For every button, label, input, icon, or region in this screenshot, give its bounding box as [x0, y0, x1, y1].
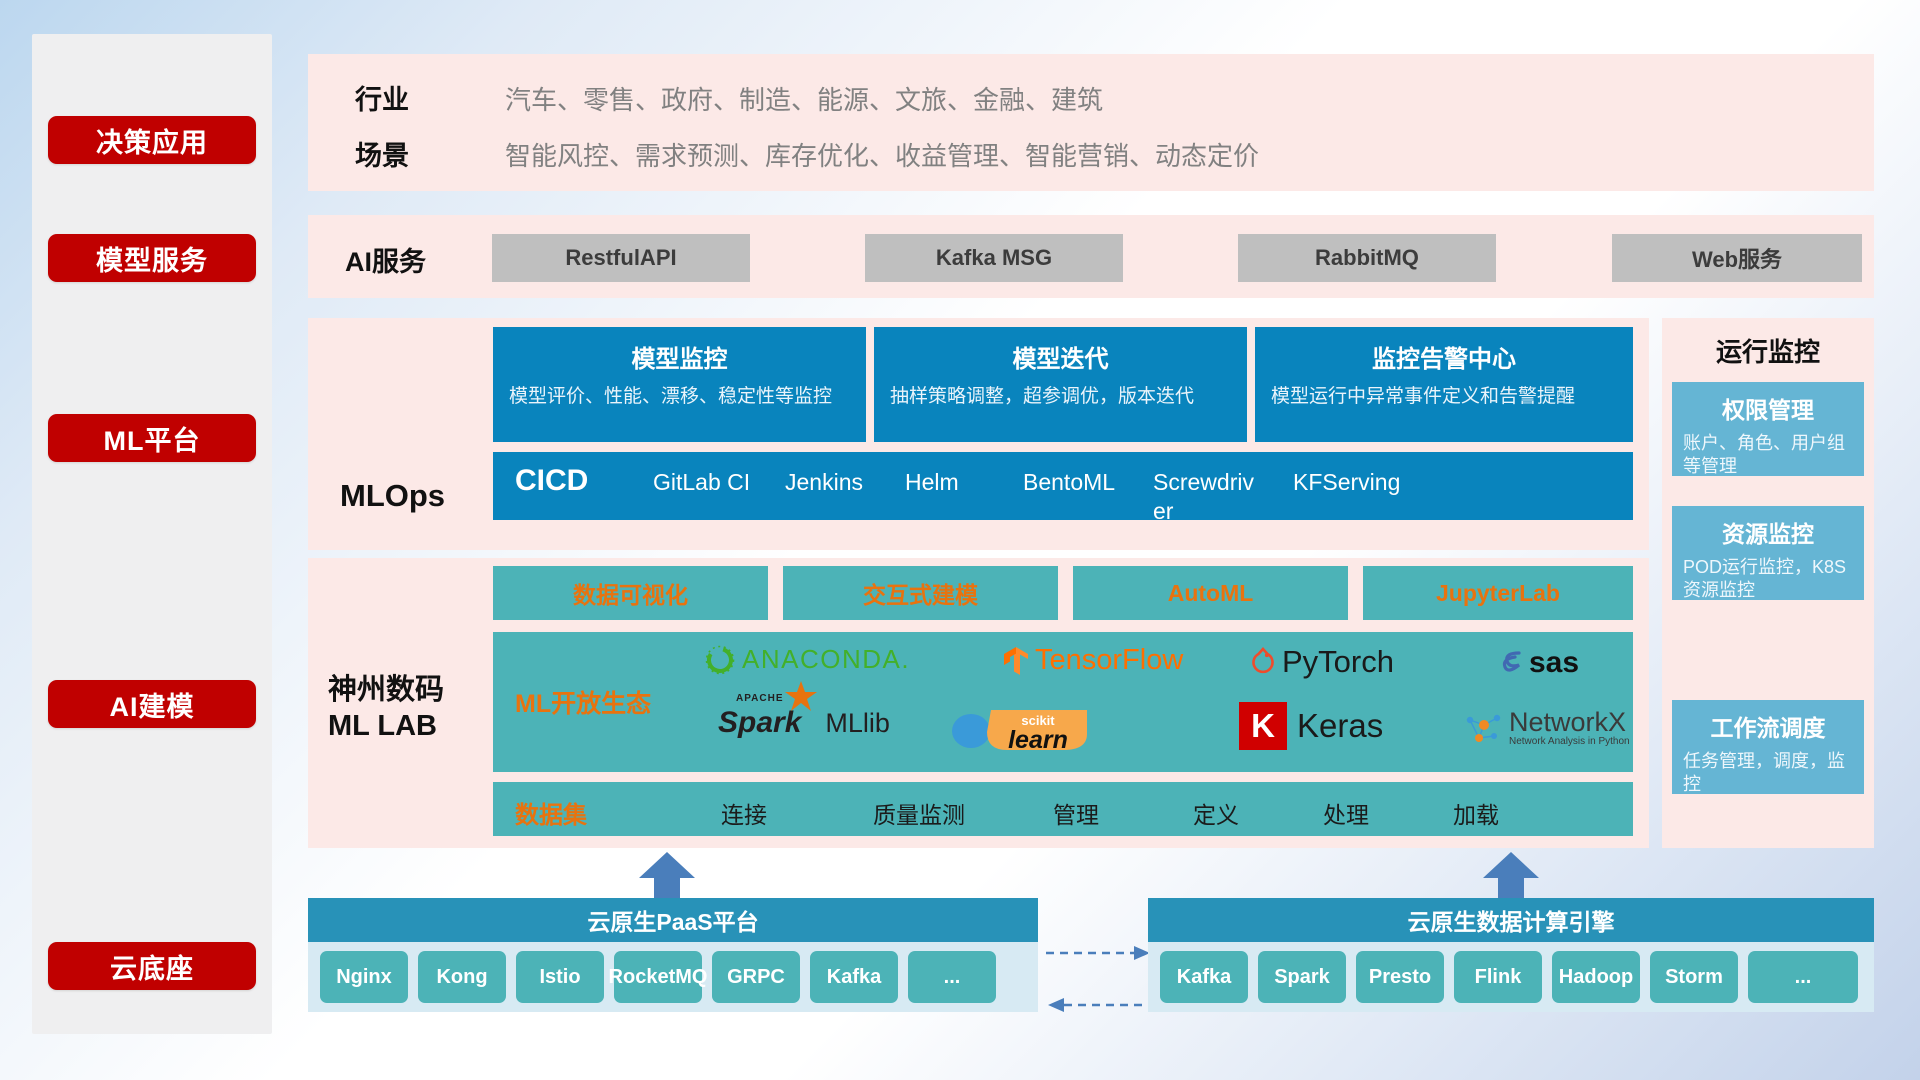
- dataset-title: 数据集: [515, 795, 587, 830]
- ai-service-chip-web[interactable]: Web服务: [1612, 234, 1862, 282]
- paas-chip-nginx[interactable]: Nginx: [320, 951, 408, 1003]
- chip-label: Kafka MSG: [936, 245, 1052, 271]
- dataset-item-manage[interactable]: 管理: [1053, 796, 1099, 830]
- card-desc: 模型运行中异常事件定义和告警提醒: [1271, 384, 1617, 410]
- chip-label: Kong: [436, 966, 487, 988]
- card-title: 资源监控: [1672, 515, 1864, 549]
- chip-label: AutoML: [1168, 580, 1254, 607]
- chip-label: GRPC: [727, 966, 785, 988]
- runtime-monitoring-title: 运行监控: [1662, 332, 1874, 369]
- cicd-item-kfserving[interactable]: KFServing: [1293, 468, 1405, 497]
- sas-wordmark: sas: [1529, 646, 1579, 680]
- scenario-label: 场景: [355, 134, 409, 173]
- mllib-wordmark: MLlib: [825, 708, 890, 739]
- chip-label: 数据可视化: [573, 576, 688, 610]
- engine-chip-spark[interactable]: Spark: [1258, 951, 1346, 1003]
- engine-chip-more[interactable]: ...: [1748, 951, 1858, 1003]
- data-engine-header: 云原生数据计算引擎: [1148, 898, 1874, 942]
- sas-logo: sas: [1498, 646, 1579, 680]
- chip-label: ...: [944, 966, 961, 988]
- card-desc: 账户、角色、用户组等管理: [1683, 432, 1853, 479]
- chip-label: RocketMQ: [609, 966, 708, 988]
- monitoring-card-permission[interactable]: 权限管理 账户、角色、用户组等管理: [1672, 382, 1864, 476]
- spark-mllib-logo: APACHE Spark MLlib: [718, 706, 890, 740]
- data-engine-chip-tray: Kafka Spark Presto Flink Hadoop Storm ..…: [1148, 942, 1874, 1012]
- card-title: 工作流调度: [1672, 709, 1864, 743]
- spark-apache-label: APACHE: [736, 693, 783, 704]
- ml-lab-label: 神州数码 ML LAB: [328, 672, 444, 745]
- learn-label: learn: [983, 728, 1093, 752]
- networkx-tagline: Network Analysis in Python: [1509, 736, 1630, 747]
- lab-tool-data-visualization[interactable]: 数据可视化: [493, 566, 768, 620]
- card-title: 权限管理: [1672, 391, 1864, 425]
- networkx-logo: NetworkX Network Analysis in Python: [1461, 708, 1630, 748]
- card-desc: 任务管理，调度，监控: [1683, 750, 1853, 797]
- scenario-list: 智能风控、需求预测、库存优化、收益管理、智能营销、动态定价: [505, 136, 1259, 173]
- paas-chip-tray: Nginx Kong Istio RocketMQ GRPC Kafka ...: [308, 942, 1038, 1012]
- chip-label: JupyterLab: [1436, 580, 1560, 607]
- mlops-card-alert-center[interactable]: 监控告警中心 模型运行中异常事件定义和告警提醒: [1255, 327, 1633, 442]
- ml-lab-label-line1: 神州数码: [328, 672, 444, 708]
- engine-chip-kafka[interactable]: Kafka: [1160, 951, 1248, 1003]
- card-desc: 模型评价、性能、漂移、稳定性等监控: [509, 384, 850, 410]
- paas-chip-grpc[interactable]: GRPC: [712, 951, 800, 1003]
- pytorch-wordmark: PyTorch: [1282, 644, 1394, 680]
- chip-label: RestfulAPI: [565, 245, 676, 271]
- card-desc: POD运行监控，K8S资源监控: [1683, 556, 1853, 603]
- tensorflow-logo: TensorFlow: [1003, 644, 1183, 677]
- chip-label: Istio: [539, 966, 580, 988]
- cicd-item-screwdriver[interactable]: Screwdriver: [1153, 468, 1265, 526]
- networkx-wordmark: NetworkX: [1509, 709, 1630, 736]
- chip-label: Nginx: [336, 966, 392, 988]
- monitoring-card-resource[interactable]: 资源监控 POD运行监控，K8S资源监控: [1672, 506, 1864, 600]
- stage-pill-label: 云底座: [110, 947, 194, 986]
- chip-label: Presto: [1369, 966, 1431, 988]
- anaconda-wordmark: ANACONDA.: [742, 644, 910, 675]
- chip-label: Kafka: [1177, 966, 1231, 988]
- dataset-item-quality-monitor[interactable]: 质量监测: [873, 796, 965, 830]
- paas-chip-more[interactable]: ...: [908, 951, 996, 1003]
- ml-open-ecosystem-box: ML开放生态 ANACONDA. APACHE Spark MLlib Tens…: [493, 632, 1633, 772]
- card-title: 模型迭代: [874, 339, 1247, 374]
- stage-pill-cloud-base[interactable]: 云底座: [48, 942, 256, 990]
- ai-service-label: AI服务: [345, 240, 426, 279]
- chip-label: Flink: [1475, 966, 1522, 988]
- paas-chip-kong[interactable]: Kong: [418, 951, 506, 1003]
- pytorch-logo: PyTorch: [1250, 644, 1394, 680]
- dataset-item-connect[interactable]: 连接: [721, 796, 767, 830]
- keras-wordmark: Keras: [1297, 707, 1383, 745]
- cicd-bar: CICD GitLab CI Jenkins Helm BentoML Scre…: [493, 452, 1633, 520]
- paas-platform-title: 云原生PaaS平台: [587, 903, 758, 937]
- mlops-label: MLOps: [340, 478, 445, 514]
- scikit-learn-logo: scikit learn: [949, 710, 1093, 752]
- dashed-arrow-left-icon: [1046, 996, 1152, 1014]
- keras-logo: K Keras: [1239, 702, 1383, 750]
- mlops-card-model-iteration[interactable]: 模型迭代 抽样策略调整，超参调优，版本迭代: [874, 327, 1247, 442]
- chip-label: Storm: [1665, 966, 1723, 988]
- chip-label: 交互式建模: [863, 576, 978, 610]
- chip-label: Web服务: [1692, 242, 1782, 274]
- ai-service-chip-rabbitmq[interactable]: RabbitMQ: [1238, 234, 1496, 282]
- stage-pill-label: ML平台: [104, 419, 201, 458]
- industry-label: 行业: [355, 78, 409, 117]
- cicd-item-jenkins[interactable]: Jenkins: [785, 468, 897, 497]
- sas-mark-icon: [1498, 648, 1528, 678]
- card-title: 模型监控: [493, 339, 866, 374]
- ml-lab-label-line2: ML LAB: [328, 708, 444, 744]
- engine-chip-flink[interactable]: Flink: [1454, 951, 1542, 1003]
- dataset-item-define[interactable]: 定义: [1193, 796, 1239, 830]
- chip-label: ...: [1795, 966, 1812, 988]
- stage-pill-decision-app[interactable]: 决策应用: [48, 116, 256, 164]
- anaconda-mark-icon: [705, 645, 735, 675]
- lab-tool-interactive-modeling[interactable]: 交互式建模: [783, 566, 1058, 620]
- dataset-bar: 数据集 连接 质量监测 管理 定义 处理 加载: [493, 782, 1633, 836]
- up-arrow-data-engine-icon: [1482, 852, 1540, 902]
- paas-chip-rocketmq[interactable]: RocketMQ: [614, 951, 702, 1003]
- pytorch-flame-icon: [1250, 647, 1276, 677]
- lab-tool-automl[interactable]: AutoML: [1073, 566, 1348, 620]
- ai-service-chip-restfulapi[interactable]: RestfulAPI: [492, 234, 750, 282]
- stage-pill-model-service[interactable]: 模型服务: [48, 234, 256, 282]
- cicd-item-gitlab-ci[interactable]: GitLab CI: [653, 468, 765, 497]
- dataset-item-process[interactable]: 处理: [1323, 796, 1369, 830]
- up-arrow-paas-icon: [638, 852, 696, 902]
- engine-chip-storm[interactable]: Storm: [1650, 951, 1738, 1003]
- dataset-item-load[interactable]: 加载: [1453, 796, 1499, 830]
- ml-open-ecosystem-title: ML开放生态: [515, 684, 651, 720]
- networkx-graph-icon: [1461, 708, 1505, 748]
- paas-chip-istio[interactable]: Istio: [516, 951, 604, 1003]
- stage-rail: 决策应用 模型服务 ML平台 AI建模 云底座: [32, 34, 272, 1034]
- cicd-title: CICD: [515, 464, 588, 498]
- data-engine-title: 云原生数据计算引擎: [1408, 903, 1615, 937]
- monitoring-card-workflow[interactable]: 工作流调度 任务管理，调度，监控: [1672, 700, 1864, 794]
- lab-tool-jupyterlab[interactable]: JupyterLab: [1363, 566, 1633, 620]
- tensorflow-wordmark: TensorFlow: [1035, 644, 1183, 677]
- engine-chip-presto[interactable]: Presto: [1356, 951, 1444, 1003]
- cicd-item-bentoml[interactable]: BentoML: [1023, 468, 1135, 497]
- stage-pill-label: 决策应用: [96, 121, 208, 160]
- spark-star-icon: [784, 679, 818, 713]
- card-desc: 抽样策略调整，超参调优，版本迭代: [890, 384, 1231, 410]
- industry-list: 汽车、零售、政府、制造、能源、文旅、金融、建筑: [505, 80, 1103, 117]
- stage-pill-label: 模型服务: [96, 239, 208, 278]
- stage-pill-ai-modeling[interactable]: AI建模: [48, 680, 256, 728]
- anaconda-logo: ANACONDA.: [705, 644, 910, 675]
- ai-service-chip-kafka-msg[interactable]: Kafka MSG: [865, 234, 1123, 282]
- chip-label: Spark: [1274, 966, 1330, 988]
- engine-chip-hadoop[interactable]: Hadoop: [1552, 951, 1640, 1003]
- chip-label: Kafka: [827, 966, 881, 988]
- card-title: 监控告警中心: [1255, 339, 1633, 374]
- tensorflow-mark-icon: [1003, 646, 1029, 676]
- paas-chip-kafka[interactable]: Kafka: [810, 951, 898, 1003]
- stage-pill-label: AI建模: [110, 685, 195, 724]
- stage-pill-ml-platform[interactable]: ML平台: [48, 414, 256, 462]
- keras-mark-icon: K: [1239, 702, 1287, 750]
- mlops-card-model-monitoring[interactable]: 模型监控 模型评价、性能、漂移、稳定性等监控: [493, 327, 866, 442]
- cicd-item-helm[interactable]: Helm: [905, 468, 1017, 497]
- chip-label: Hadoop: [1559, 966, 1633, 988]
- dashed-arrow-right-icon: [1046, 944, 1152, 962]
- chip-label: RabbitMQ: [1315, 245, 1419, 271]
- paas-platform-header: 云原生PaaS平台: [308, 898, 1038, 942]
